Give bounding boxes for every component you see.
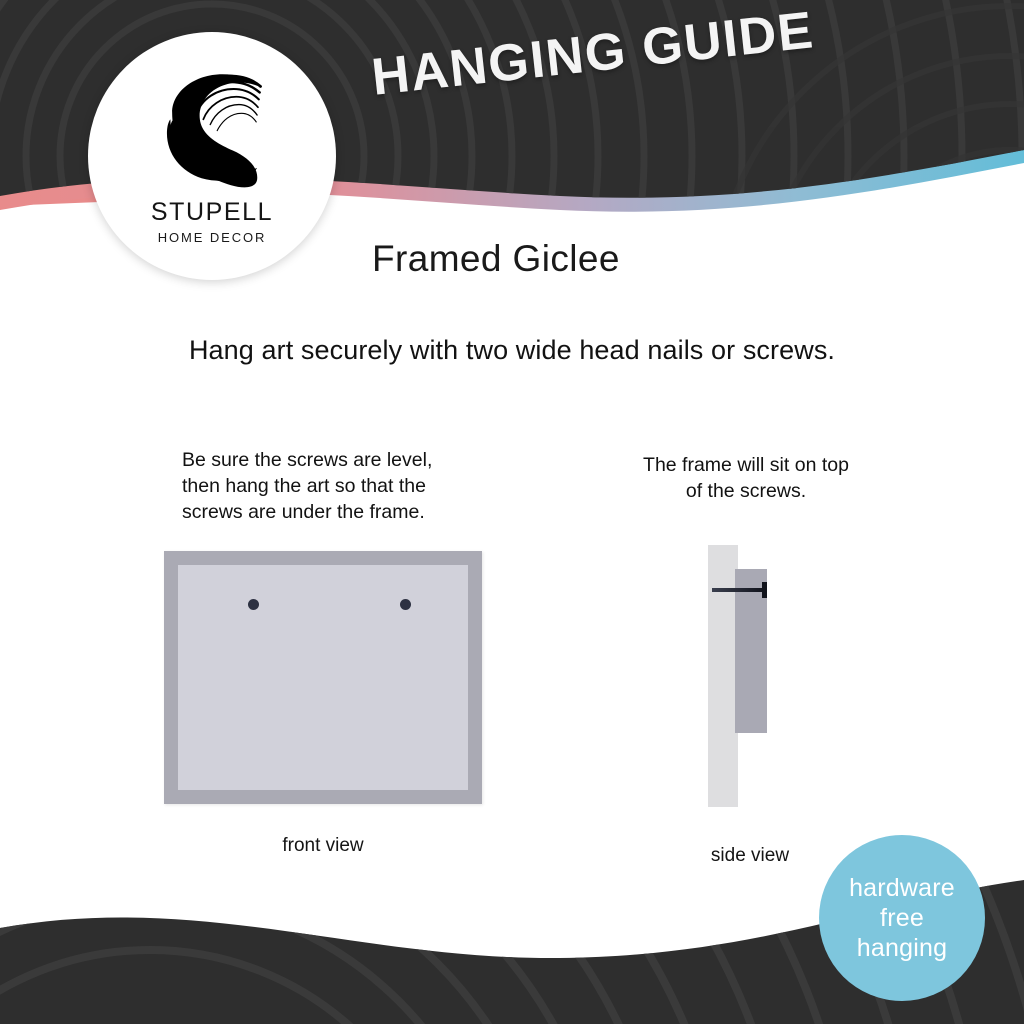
front-view-caption-line1: Be sure the screws are level, [182, 447, 482, 473]
front-view-caption-line3: screws are under the frame. [182, 499, 482, 525]
side-view-caption-line2: of the screws. [595, 478, 897, 504]
nail-icon [712, 588, 764, 592]
brand-tagline: HOME DECOR [158, 230, 267, 245]
main-instruction-text: Hang art securely with two wide head nai… [0, 335, 1024, 366]
front-view-label: front view [164, 835, 482, 857]
front-view-frame-inner [178, 565, 468, 790]
nail-head-icon [762, 582, 767, 598]
front-view-caption-line2: then hang the art so that the [182, 473, 482, 499]
front-view-frame-diagram [164, 551, 482, 804]
brand-name: STUPELL [151, 198, 273, 227]
side-view-caption-line1: The frame will sit on top [595, 452, 897, 478]
side-view-frame-diagram [690, 545, 810, 807]
page-title: HANGING GUIDE [369, 0, 817, 108]
badge-line-3: hanging [857, 933, 947, 963]
product-type-label: Framed Giclee [372, 238, 620, 280]
badge-line-2: free [880, 903, 924, 933]
badge-line-1: hardware [849, 873, 955, 903]
screw-dot-left-icon [248, 599, 259, 610]
screw-dot-right-icon [400, 599, 411, 610]
side-view-caption: The frame will sit on top of the screws. [595, 452, 897, 504]
hanging-guide-page: STUPELL HOME DECOR HANGING GUIDE Framed … [0, 0, 1024, 1024]
brand-logo-badge: STUPELL HOME DECOR [88, 32, 336, 280]
stupell-swoosh-s-icon [160, 66, 264, 190]
side-view-wall-bar [708, 545, 738, 807]
hardware-free-hanging-badge: hardware free hanging [819, 835, 985, 1001]
front-view-caption: Be sure the screws are level, then hang … [182, 447, 482, 525]
side-view-label: side view [650, 845, 850, 867]
